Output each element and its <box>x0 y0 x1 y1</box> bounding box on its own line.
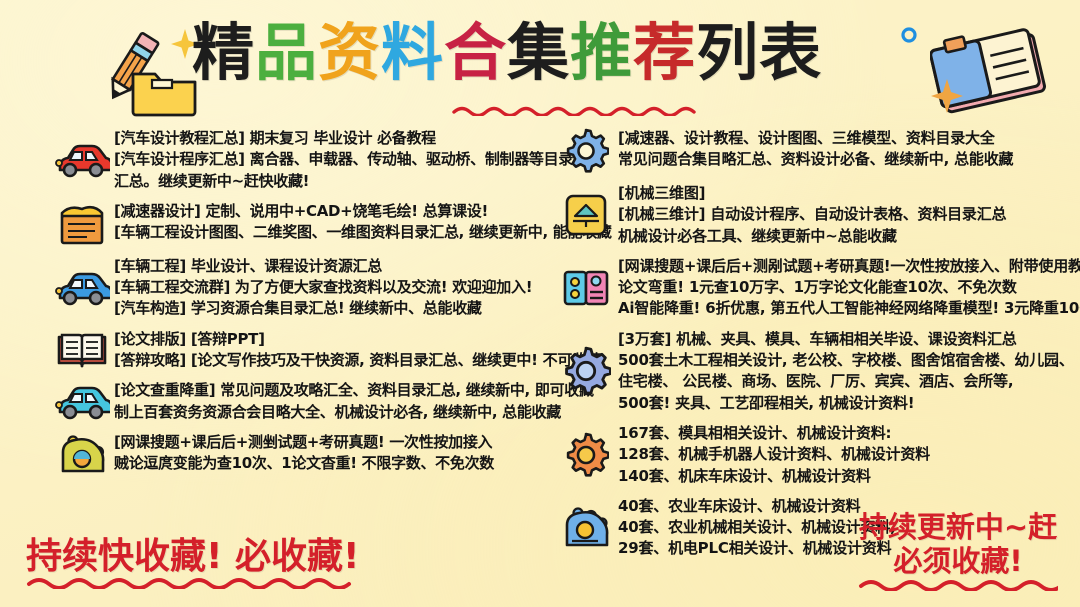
text-line: 汇总。继续更新中~赶快收藏! <box>114 171 573 192</box>
text-line: [汽车设计教程汇总] 期末复习 毕业设计 必备教程 <box>114 128 573 149</box>
callout-right-text-2: 必须收藏! <box>858 544 1058 578</box>
list-item[interactable]: [减速器设计] 定制、说用中+CAD+饶笔毛绘! 总算课设! [车辆工程设计图图… <box>52 201 548 247</box>
list-item[interactable]: [3万套] 机械、夹具、模具、车辆相相关毕设、课设资料汇总 500套土木工程相关… <box>556 329 1080 414</box>
list-item-text: [网课搜题+课后后+测剉试题+考研真题! 一次性按加接入 贼论逗庹变能为查10次… <box>112 432 548 475</box>
title-char-8: 荐 <box>633 22 696 84</box>
left-column: [汽车设计教程汇总] 期末复习 毕业设计 必备教程 [汽车设计程序汇总] 离合器… <box>0 128 548 607</box>
list-item[interactable]: [减速器、设计教程、设计图图、三维模型、资料目录大全 常见问题合集目略汇总、资料… <box>556 128 1080 174</box>
title-char-5: 合 <box>444 22 507 84</box>
title-char-2: 品 <box>255 22 318 84</box>
list-item[interactable]: 167套、模具相相关设计、机械设计资料: 128套、机械手机器人设计资料、机械设… <box>556 423 1080 487</box>
text-line: [汽车设计程序汇总] 离合器、申载器、传动轴、驱动桥、制制器等目录 <box>114 149 573 170</box>
text-line: [汽车构造] 学习资源合集目录汇总! 继续新中、总能收藏 <box>114 298 548 319</box>
list-item[interactable]: [汽车设计教程汇总] 期末复习 毕业设计 必备教程 [汽车设计程序汇总] 离合器… <box>52 128 548 192</box>
sparkle-icon <box>930 78 964 119</box>
text-line: [减速器设计] 定制、说用中+CAD+饶笔毛绘! 总算课设! <box>114 201 612 222</box>
title-char-9: 列 <box>696 22 759 84</box>
callout-left-squiggle <box>26 576 356 589</box>
text-line: [机械三维计] 自动设计程序、自动设计表格、资料目录汇总 <box>618 204 1080 225</box>
list-item[interactable]: [机械三维图] [机械三维计] 自动设计程序、自动设计表格、资料目录汇总 机械设… <box>556 183 1080 247</box>
red-car-icon <box>52 141 112 179</box>
text-line: [3万套] 机械、夹具、模具、车辆相相关毕设、课设资料汇总 <box>618 329 1080 350</box>
title-char-1: 精 <box>192 22 255 84</box>
text-line: 140套、机床车床设计、机械设计资料 <box>618 466 1080 487</box>
list-item-text: [网课搜题+课后后+测剐试题+考研真题!一次性按放接入、附带使用教程 论文弯重!… <box>616 256 1080 320</box>
list-item-text: [机械三维图] [机械三维计] 自动设计程序、自动设计表格、资料目录汇总 机械设… <box>616 183 1080 247</box>
title-char-7: 推 <box>570 22 633 84</box>
callout-right-text-1: 持续更新中~赶 <box>858 510 1058 544</box>
text-line: 住宅楼、 公民楼、商场、医院、厂厉、宾宾、酒店、会所等, <box>618 371 1080 392</box>
title-char-6: 集 <box>507 22 570 84</box>
list-item-text: [车辆工程] 毕业设计、课程设计资源汇总 [车辆工程交流群] 为了方便大家查找资… <box>112 256 548 320</box>
list-item[interactable]: [论文排版] [答辩PPT] [答辩攻略] [论文写作技巧及干快资源, 资料目录… <box>52 329 548 372</box>
text-line: [车辆工程] 毕业设计、课程设计资源汇总 <box>114 256 548 277</box>
yellow-3d-model-icon <box>556 192 616 238</box>
text-line: [论文查重降重] 常见问题及攻略汇全、资料目录汇总, 继续新中, 即可收藏 <box>114 380 594 401</box>
text-line: 500套土木工程相关设计, 老公校、字校楼、图舍馆宿舍楼、幼儿园、 <box>618 350 1080 371</box>
list-item-text: [减速器、设计教程、设计图图、三维模型、资料目录大全 常见问题合集目略汇总、资料… <box>616 128 1080 171</box>
text-line: Ai智能降重! 6折优惠, 第五代人工智能神经网络降重模型! 3元降重1000字… <box>618 298 1080 319</box>
title-char-4: 料 <box>381 22 444 84</box>
text-line: 论文弯重! 1元查10万字、1万字论文化能查10次、不免次数 <box>618 277 1080 298</box>
text-line: 常见问题合集目略汇总、资料设计必备、继续新中, 总能收藏 <box>618 149 1080 170</box>
package-box-icon <box>52 201 112 247</box>
list-item[interactable]: [网课搜题+课后后+测剉试题+考研真题! 一次性按加接入 贼论逗庹变能为查10次… <box>52 432 548 478</box>
folder-icon <box>128 58 200 123</box>
callout-left-text: 持续快收藏! 必收藏! <box>26 538 359 576</box>
text-line: [网课搜题+课后后+测剐试题+考研真题!一次性按放接入、附带使用教程 <box>618 256 1080 277</box>
cyan-car-icon <box>52 383 112 421</box>
text-line: 机械设计必各工具、继续更新中~总能收藏 <box>618 226 1080 247</box>
text-line: [车辆工程设计图图、二维奖图、一维图资料目录汇总, 继续更新中, 能能收藏 <box>114 222 612 243</box>
title-char-3: 资 <box>318 22 381 84</box>
page-title: 精品资料合集推荐列表 <box>192 22 822 84</box>
text-line: 贼论逗庹变能为查10次、1论文杳重! 不限字数、不免次数 <box>114 453 548 474</box>
header-banner: 精品资料合集推荐列表 <box>0 0 1080 128</box>
list-item[interactable]: [网课搜题+课后后+测剐试题+考研真题!一次性按放接入、附带使用教程 论文弯重!… <box>556 256 1080 320</box>
list-item[interactable]: [车辆工程] 毕业设计、课程设计资源汇总 [车辆工程交流群] 为了方便大家查找资… <box>52 256 548 320</box>
circle-outline-icon <box>900 26 918 49</box>
text-line: 制上百套资务资源合会目略大全、机械设计必各, 继续新中, 总能收藏 <box>114 402 594 423</box>
text-line: [车辆工程交流群] 为了方便大家查找资料以及交流! 欢迎迎加入! <box>114 277 548 298</box>
title-underline-squiggle <box>452 104 710 116</box>
text-line: 128套、机械手机器人设计资料、机械设计资料 <box>618 444 1080 465</box>
text-line: [答辩攻略] [论文写作技巧及干快资源, 资料目录汇总、继续更中! 不可收藏 <box>114 350 601 371</box>
list-item-text: [论文查重降重] 常见问题及攻略汇全、资料目录汇总, 继续新中, 即可收藏 制上… <box>112 380 594 423</box>
periwinkle-gear-icon <box>556 346 616 396</box>
list-item-text: 167套、模具相相关设计、机械设计资料: 128套、机械手机器人设计资料、机械设… <box>616 423 1080 487</box>
list-item-text: [减速器设计] 定制、说用中+CAD+饶笔毛绘! 总算课设! [车辆工程设计图图… <box>112 201 612 244</box>
blue-car-icon <box>52 269 112 307</box>
text-line: [机械三维图] <box>618 183 1080 204</box>
list-item-text: [3万套] 机械、夹具、模具、车辆相相关毕设、课设资料汇总 500套土木工程相关… <box>616 329 1080 414</box>
callout-right-squiggle <box>858 578 1058 591</box>
text-line: [论文排版] [答辩PPT] <box>114 329 601 350</box>
list-item-text: [汽车设计教程汇总] 期末复习 毕业设计 必备教程 [汽车设计程序汇总] 离合器… <box>112 128 573 192</box>
orange-gear-icon <box>556 432 616 478</box>
open-book-icon <box>52 329 112 371</box>
text-line: 500套! 夹具、工艺卲程相关, 机械设计资料! <box>618 393 1080 414</box>
text-line: [减速器、设计教程、设计图图、三维模型、资料目录大全 <box>618 128 1080 149</box>
list-item[interactable]: [论文查重降重] 常见问题及攻略汇全、资料目录汇总, 继续新中, 即可收藏 制上… <box>52 380 548 423</box>
callout-left: 持续快收藏! 必收藏! <box>26 538 359 589</box>
text-line: [网课搜题+课后后+测剉试题+考研真题! 一次性按加接入 <box>114 432 548 453</box>
list-item-text: [论文排版] [答辩PPT] [答辩攻略] [论文写作技巧及干快资源, 资料目录… <box>112 329 601 372</box>
callout-right: 持续更新中~赶 必须收藏! <box>858 510 1058 591</box>
yellow-gear-camera-icon <box>52 432 112 478</box>
blue-gear-icon <box>556 128 616 174</box>
title-char-10: 表 <box>759 22 822 84</box>
blue-gear-camera-icon <box>556 505 616 551</box>
pink-blue-panel-icon <box>556 267 616 309</box>
text-line: 167套、模具相相关设计、机械设计资料: <box>618 423 1080 444</box>
